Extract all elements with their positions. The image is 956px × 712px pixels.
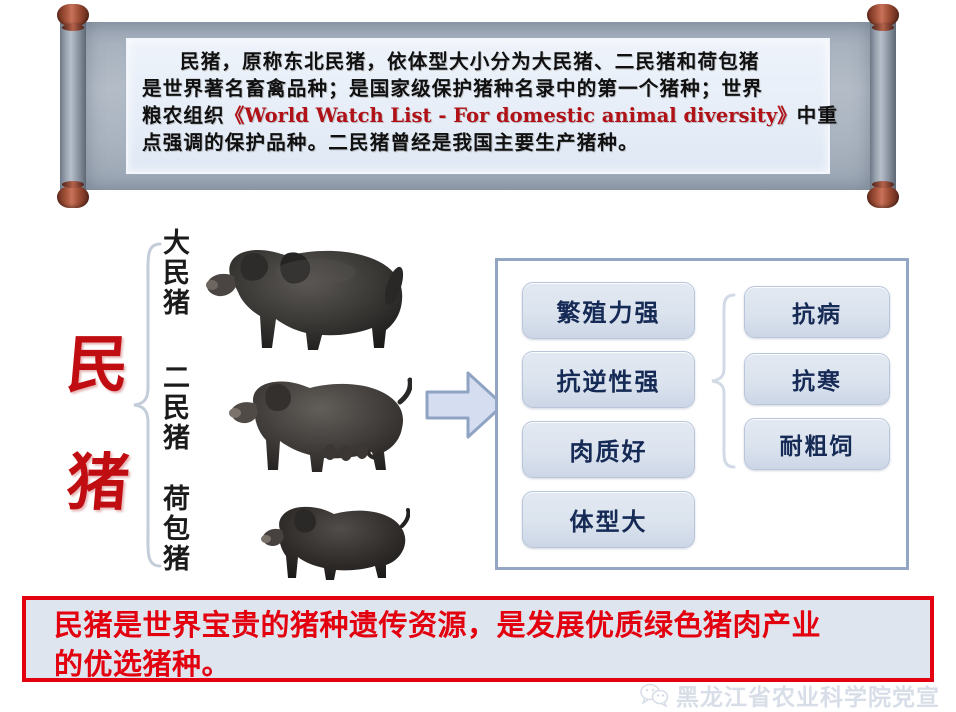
scroll-line-3-prefix: 粮农组织: [142, 104, 225, 127]
scroll-line-3-suffix: 中重: [797, 104, 838, 127]
feature-box-disease-resistance[interactable]: 抗病: [744, 286, 890, 338]
scroll-line-1: 民猪，原称东北民猪，依体型大小分为大民猪、二民猪和荷包猪: [142, 48, 814, 75]
feature-box-roughage-tolerance[interactable]: 耐粗饲: [744, 418, 890, 470]
pig-image-he-bao-zhu: [258, 488, 410, 582]
scroll-knob-top-left: [57, 4, 89, 26]
wechat-icon: [639, 683, 669, 707]
world-watch-list-title: 《World Watch List - For domestic animal …: [225, 104, 797, 127]
scroll-paper: 民猪，原称东北民猪，依体型大小分为大民猪、二民猪和荷包猪 是世界著名畜禽品种；是…: [86, 22, 870, 190]
watermark: 黑龙江省农业科学院党宣: [639, 678, 940, 712]
feature-sub-brace: [698, 291, 740, 471]
conclusion-text: 民猪是世界宝贵的猪种遗传资源，是发展优质绿色猪肉产业 的优选猪种。: [54, 606, 912, 684]
pig-image-da-min-zhu: [196, 224, 418, 358]
conclusion-banner: 民猪是世界宝贵的猪种遗传资源，是发展优质绿色猪肉产业 的优选猪种。: [22, 596, 934, 682]
scroll-banner: 民猪，原称东北民猪，依体型大小分为大民猪、二民猪和荷包猪 是世界著名畜禽品种；是…: [60, 0, 896, 212]
feature-box-body-size[interactable]: 体型大: [522, 491, 695, 548]
scroll-line-4: 点强调的保护品种。二民猪曾经是我国主要生产猪种。: [142, 129, 814, 156]
feature-box-stress-resistance[interactable]: 抗逆性强: [522, 351, 695, 408]
scroll-line-3: 粮农组织《World Watch List - For domestic ani…: [142, 102, 814, 129]
feature-box-meat-quality[interactable]: 肉质好: [522, 421, 695, 478]
feature-box-breeding[interactable]: 繁殖力强: [522, 282, 695, 339]
pig-image-er-min-zhu: [226, 358, 412, 480]
feature-box-cold-resistance[interactable]: 抗寒: [744, 353, 890, 405]
conclusion-line-1: 民猪是世界宝贵的猪种遗传资源，是发展优质绿色猪肉产业: [54, 606, 912, 645]
watermark-text: 黑龙江省农业科学院党宣: [676, 678, 940, 712]
breed-label-er-min-zhu: 二民猪: [158, 363, 188, 453]
scroll-rod-left: [60, 8, 86, 204]
right-arrow-icon: [424, 368, 506, 442]
feature-panel: 繁殖力强 抗逆性强 肉质好 体型大 抗病 抗寒 耐粗饲: [495, 258, 909, 570]
scroll-knob-bottom-left: [57, 186, 89, 208]
scroll-text-panel: 民猪，原称东北民猪，依体型大小分为大民猪、二民猪和荷包猪 是世界著名畜禽品种；是…: [126, 38, 830, 174]
scroll-rod-right: [870, 8, 896, 204]
scroll-line-2: 是世界著名畜禽品种；是国家级保护猪种名录中的第一个猪种；世界: [142, 75, 814, 102]
scroll-knob-bottom-right: [867, 186, 899, 208]
scroll-knob-top-right: [867, 4, 899, 26]
breed-label-he-bao-zhu: 荷包猪: [158, 484, 188, 574]
breed-label-da-min-zhu: 大民猪: [158, 228, 188, 318]
